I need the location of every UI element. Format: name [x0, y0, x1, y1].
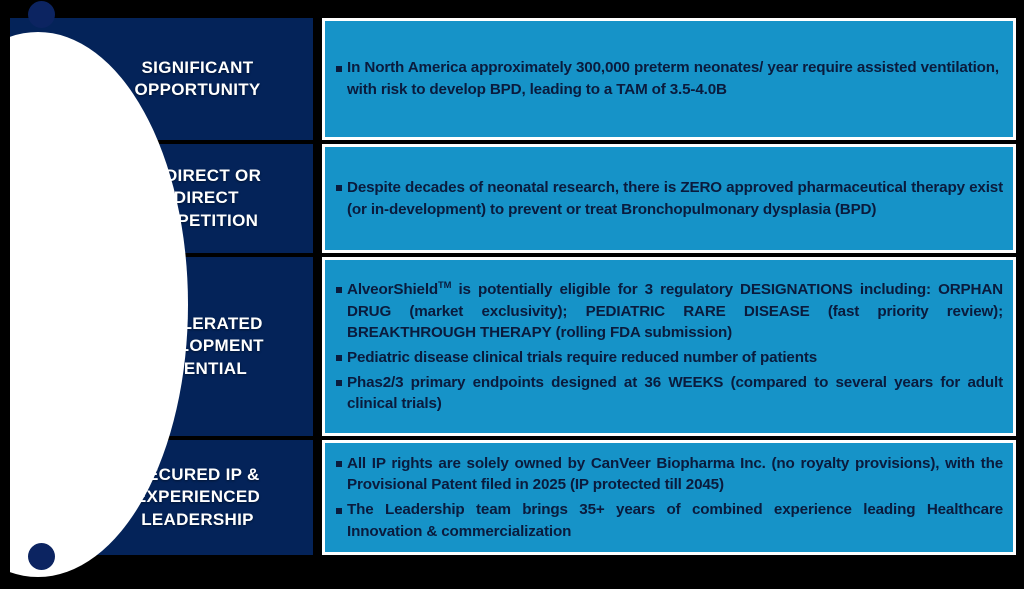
bullet-text: The Leadership team brings 35+ years of … — [347, 499, 1003, 542]
square-bullet-icon — [331, 453, 347, 475]
list-item: In North America approximately 300,000 p… — [331, 57, 1003, 100]
label-text: SIGNIFICANTOPPORTUNITY — [134, 57, 260, 102]
content-block-no-direct-or-indirect-competition[interactable]: Despite decades of neonatal research, th… — [322, 144, 1016, 253]
bullet-text: Despite decades of neonatal research, th… — [347, 177, 1003, 220]
label-panel-no-direct-or-indirect-competition[interactable]: NO DIRECT ORINDIRECTCOMPETITION — [0, 144, 313, 253]
list-item: All IP rights are solely owned by CanVee… — [331, 453, 1003, 496]
bullet-text: Phas2/3 primary endpoints designed at 36… — [347, 372, 1003, 415]
bullet-text: All IP rights are solely owned by CanVee… — [347, 453, 1003, 496]
square-bullet-icon — [331, 372, 347, 394]
square-bullet-icon — [331, 177, 347, 199]
square-bullet-icon — [331, 347, 347, 369]
label-text: SECURED IP &EXPERIENCEDLEADERSHIP — [135, 464, 260, 531]
label-text: ACCELERATEDDEVELOPMENTPOTENTIAL — [131, 313, 264, 380]
bullet-text: Pediatric disease clinical trials requir… — [347, 347, 1003, 369]
square-bullet-icon — [331, 499, 347, 521]
content-column: In North America approximately 300,000 p… — [322, 18, 1016, 555]
label-text: NO DIRECT ORINDIRECTCOMPETITION — [134, 165, 261, 232]
label-panel-secured-ip-experienced-leadership[interactable]: SECURED IP &EXPERIENCEDLEADERSHIP — [0, 440, 313, 555]
content-block-significant-opportunity[interactable]: In North America approximately 300,000 p… — [322, 18, 1016, 140]
bullet-text: AlveorShieldTM is potentially eligible f… — [347, 278, 1003, 344]
label-panel-significant-opportunity[interactable]: SIGNIFICANTOPPORTUNITY — [0, 18, 313, 140]
square-bullet-icon — [331, 57, 347, 79]
label-column: SIGNIFICANTOPPORTUNITY NO DIRECT ORINDIR… — [0, 18, 313, 555]
list-item: Pediatric disease clinical trials requir… — [331, 347, 1003, 369]
list-item: AlveorShieldTM is potentially eligible f… — [331, 278, 1003, 344]
list-item: Despite decades of neonatal research, th… — [331, 177, 1003, 220]
content-block-secured-ip-experienced-leadership[interactable]: All IP rights are solely owned by CanVee… — [322, 440, 1016, 555]
list-item: Phas2/3 primary endpoints designed at 36… — [331, 372, 1003, 415]
content-block-accelerated-development-potential[interactable]: AlveorShieldTM is potentially eligible f… — [322, 257, 1016, 436]
bullet-text: In North America approximately 300,000 p… — [347, 57, 1003, 100]
label-panel-accelerated-development-potential[interactable]: ACCELERATEDDEVELOPMENTPOTENTIAL — [0, 257, 313, 436]
square-bullet-icon — [331, 278, 347, 300]
list-item: The Leadership team brings 35+ years of … — [331, 499, 1003, 542]
slide-canvas: SIGNIFICANTOPPORTUNITY NO DIRECT ORINDIR… — [0, 0, 1024, 571]
